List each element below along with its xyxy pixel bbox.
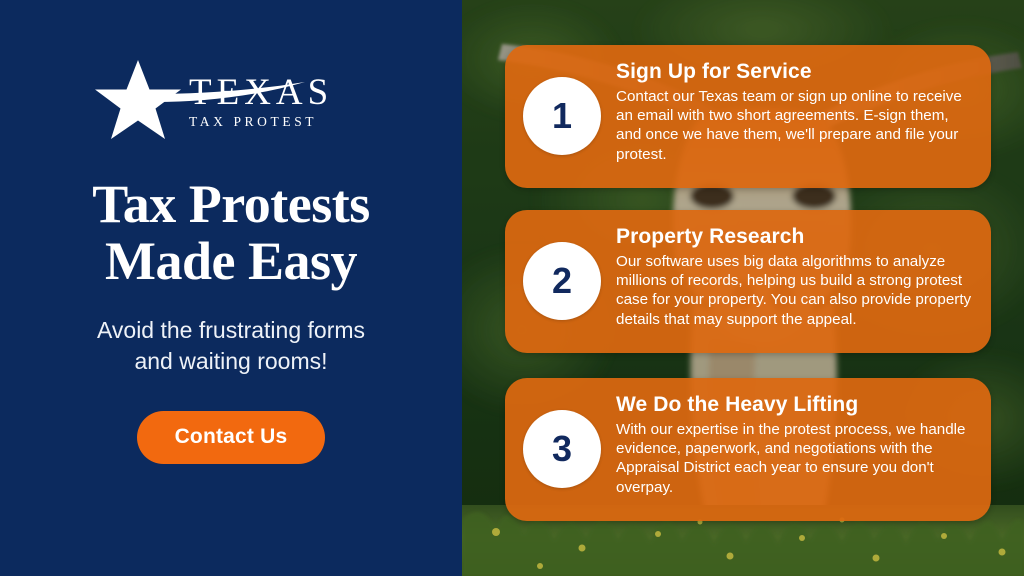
page-title: Tax Protests Made Easy bbox=[16, 176, 446, 289]
headline-line-2: Made Easy bbox=[105, 231, 357, 291]
cta-container: Contact Us bbox=[137, 411, 326, 464]
step-title-1: Sign Up for Service bbox=[616, 60, 976, 84]
step-card-3[interactable]: 3 We Do the Heavy Lifting With our exper… bbox=[505, 378, 991, 521]
subhead-line-2: and waiting rooms! bbox=[134, 348, 327, 374]
step-card-body-2: Property Research Our software uses big … bbox=[616, 210, 988, 329]
step-card-2[interactable]: 2 Property Research Our software uses bi… bbox=[505, 210, 991, 353]
brand-name-secondary: TAX PROTEST bbox=[189, 115, 333, 129]
step-card-body-3: We Do the Heavy Lifting With our experti… bbox=[616, 378, 988, 497]
contact-us-button[interactable]: Contact Us bbox=[137, 411, 326, 464]
step-title-3: We Do the Heavy Lifting bbox=[616, 393, 976, 417]
brand-name-primary: TEXAS bbox=[189, 74, 333, 111]
step-card-1[interactable]: 1 Sign Up for Service Contact our Texas … bbox=[505, 45, 991, 188]
step-text-1: Contact our Texas team or sign up online… bbox=[616, 87, 976, 164]
step-card-body-1: Sign Up for Service Contact our Texas te… bbox=[616, 45, 988, 164]
subhead-line-1: Avoid the frustrating forms bbox=[97, 317, 365, 343]
brand-logo[interactable]: TEXAS TAX PROTEST bbox=[81, 58, 381, 142]
left-info-panel: TEXAS TAX PROTEST Tax Protests Made Easy… bbox=[0, 0, 462, 576]
step-number-badge-3: 3 bbox=[523, 410, 601, 488]
step-text-2: Our software uses big data algorithms to… bbox=[616, 252, 976, 329]
page-subtitle: Avoid the frustrating forms and waiting … bbox=[31, 315, 431, 377]
step-number-badge-2: 2 bbox=[523, 242, 601, 320]
promo-banner: TEXAS TAX PROTEST Tax Protests Made Easy… bbox=[0, 0, 1024, 576]
step-text-3: With our expertise in the protest proces… bbox=[616, 420, 976, 497]
headline-line-1: Tax Protests bbox=[92, 174, 370, 234]
step-title-2: Property Research bbox=[616, 225, 976, 249]
step-number-badge-1: 1 bbox=[523, 77, 601, 155]
